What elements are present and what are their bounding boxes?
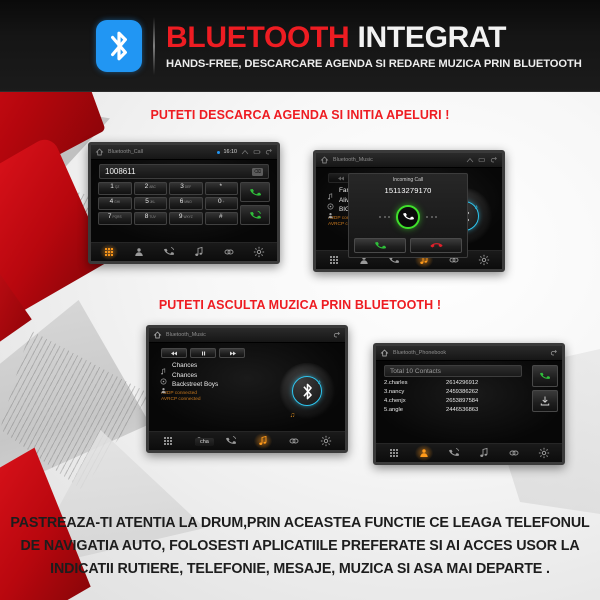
music-transport-controls[interactable] bbox=[149, 343, 345, 358]
contact-number: 2653897584 bbox=[446, 398, 478, 404]
contact-name: 4.chenjx bbox=[384, 398, 446, 404]
dial-key-2[interactable]: 2ABC bbox=[134, 182, 168, 195]
device-screenshot-dialer: Bluetooth_Call 16:10 1008611 ⌫ 1QZ2ABC3D… bbox=[88, 142, 280, 264]
call-log-icon[interactable] bbox=[163, 246, 175, 258]
backspace-icon[interactable]: ⌫ bbox=[252, 168, 263, 176]
call-icon bbox=[539, 370, 551, 382]
settings-icon[interactable] bbox=[320, 435, 332, 447]
download-icon bbox=[539, 395, 551, 407]
dial-key-digit: 0 bbox=[218, 198, 222, 205]
incoming-app-name: Bluetooth_Music bbox=[333, 157, 373, 163]
dialer-keypad[interactable]: 1QZ2ABC3DEF*4GHI5JKL6MNO0+7PQRS8TUV9WXYZ… bbox=[98, 182, 238, 225]
contact-name: 5.angle bbox=[384, 407, 446, 413]
dial-key-#[interactable]: # bbox=[205, 212, 239, 225]
contact-number: 2459386262 bbox=[446, 389, 478, 395]
ring-dots-left bbox=[379, 216, 390, 218]
music-icon[interactable] bbox=[193, 246, 205, 258]
title-red-part: BLUETOOTH bbox=[166, 21, 349, 54]
artist-icon bbox=[327, 206, 334, 213]
contact-number: 2614296912 bbox=[446, 380, 478, 386]
dial-key-9[interactable]: 9WXYZ bbox=[169, 212, 203, 225]
music-note-icon-orange: ♫ bbox=[290, 412, 295, 419]
dial-call-button[interactable] bbox=[240, 182, 270, 202]
contacts-icon[interactable] bbox=[418, 447, 430, 459]
dial-key-digit: 6 bbox=[180, 198, 184, 205]
dial-key-digit: 7 bbox=[108, 213, 112, 220]
dial-key-0[interactable]: 0+ bbox=[205, 197, 239, 210]
keypad-icon[interactable] bbox=[103, 246, 115, 258]
dial-handsfree-button[interactable] bbox=[240, 205, 270, 225]
home-icon[interactable] bbox=[153, 331, 162, 339]
dial-key-8[interactable]: 8TUV bbox=[134, 212, 168, 225]
settings-icon[interactable] bbox=[253, 246, 265, 258]
status-time: 16:10 bbox=[224, 149, 238, 155]
music-navbar[interactable]: cha bbox=[149, 431, 345, 450]
footer-line-1: PASTREAZA-TI ATENTIA LA DRUM,PRIN ACEAST… bbox=[0, 512, 600, 535]
dial-key-digit: 5 bbox=[145, 198, 149, 205]
pause-icon[interactable] bbox=[190, 348, 216, 358]
header-subtitle: HANDS-FREE, DESCARCARE AGENDA SI REDARE … bbox=[166, 58, 582, 70]
dial-key-letters: JKL bbox=[150, 200, 156, 204]
music-note-icon: ♪ bbox=[475, 204, 479, 211]
link-icon[interactable] bbox=[223, 246, 235, 258]
ring-dots-right bbox=[426, 216, 437, 218]
contact-row[interactable]: 3.nancy2459386262 bbox=[384, 389, 554, 395]
contact-name: 3.nancy bbox=[384, 389, 446, 395]
ringing-indicator bbox=[396, 205, 420, 229]
dial-key-digit: 1 bbox=[110, 183, 114, 190]
keypad-icon[interactable] bbox=[328, 254, 340, 266]
signal-icon bbox=[241, 148, 249, 156]
call-answer-icon bbox=[374, 239, 387, 252]
back-icon[interactable] bbox=[550, 349, 558, 357]
dial-key-letters: WXYZ bbox=[183, 215, 192, 219]
battery-icon bbox=[253, 148, 261, 156]
title-white-part: INTEGRAT bbox=[349, 21, 506, 54]
bluetooth-disc-graphic: ♪ bbox=[279, 363, 335, 419]
signal-icon bbox=[466, 156, 474, 164]
dial-key-digit: 2 bbox=[145, 183, 149, 190]
phonebook-titlebar: Bluetooth_Phonebook bbox=[376, 346, 562, 361]
phonebook-download-button[interactable] bbox=[532, 390, 558, 412]
keypad-icon[interactable] bbox=[388, 447, 400, 459]
contact-name: 2.charles bbox=[384, 380, 446, 386]
contact-row[interactable]: 5.angle2446536863 bbox=[384, 407, 554, 413]
track-text: Chances bbox=[172, 362, 197, 369]
dial-key-7[interactable]: 7PQRS bbox=[98, 212, 132, 225]
footer-line-3: INDICATII RUTIERE, TELEFONIE, MESAJE, MU… bbox=[0, 558, 600, 581]
phonebook-app-name: Bluetooth_Phonebook bbox=[393, 350, 446, 356]
incoming-titlebar: Bluetooth_Music bbox=[316, 153, 502, 168]
album-icon bbox=[160, 372, 167, 379]
dial-key-3[interactable]: 3DEF bbox=[169, 182, 203, 195]
track-text: Backstreet Boys bbox=[172, 381, 218, 388]
page-title: BLUETOOTH INTEGRAT bbox=[166, 22, 582, 54]
contacts-icon[interactable] bbox=[133, 246, 145, 258]
header-divider bbox=[153, 17, 155, 75]
dialog-title: Incoming Call bbox=[393, 177, 423, 183]
dial-key-digit: 9 bbox=[179, 213, 183, 220]
call-log-icon[interactable] bbox=[225, 435, 237, 447]
dial-key-letters: TUV bbox=[149, 215, 155, 219]
device-screenshot-phonebook: Bluetooth_Phonebook Total 10 Contacts 2.… bbox=[373, 343, 565, 465]
dial-key-4[interactable]: 4GHI bbox=[98, 197, 132, 210]
dial-key-letters: QZ bbox=[115, 185, 119, 189]
dialer-app-name: Bluetooth_Call bbox=[108, 149, 143, 155]
back-icon[interactable] bbox=[490, 156, 498, 164]
section-heading-1: PUTETI DESCARCA AGENDA SI INITIA APELURI… bbox=[0, 108, 600, 122]
section-heading-2: PUTETI ASCULTA MUZICA PRIN BLUETOOTH ! bbox=[0, 298, 600, 312]
music-icon[interactable] bbox=[478, 447, 490, 459]
device-screenshot-music: Bluetooth_Music ChancesChancesBackstreet… bbox=[146, 325, 348, 453]
phone-number-value: 1008611 bbox=[105, 167, 252, 176]
dial-key-5[interactable]: 5JKL bbox=[134, 197, 168, 210]
music-note-icon: ♪ bbox=[318, 379, 322, 386]
page-header: BLUETOOTH INTEGRAT HANDS-FREE, DESCARCAR… bbox=[0, 0, 600, 92]
dial-key-letters: MNO bbox=[184, 200, 191, 204]
music-nav-chip[interactable]: cha bbox=[195, 438, 214, 446]
dial-key-letters: + bbox=[223, 200, 225, 204]
incoming-call-dialog: Incoming Call 15113279170 bbox=[348, 173, 468, 258]
phonebook-search-input[interactable]: Total 10 Contacts bbox=[384, 365, 522, 377]
album-icon bbox=[327, 197, 334, 204]
dialer-navbar[interactable] bbox=[91, 242, 277, 261]
dial-key-letters: ABC bbox=[149, 185, 156, 189]
battery-icon bbox=[478, 156, 486, 164]
settings-icon[interactable] bbox=[478, 254, 490, 266]
music-titlebar: Bluetooth_Music bbox=[149, 328, 345, 343]
phonebook-contacts-count: Total 10 Contacts bbox=[390, 368, 441, 375]
dial-key-6[interactable]: 6MNO bbox=[169, 197, 203, 210]
link-icon[interactable] bbox=[288, 435, 300, 447]
keypad-icon[interactable] bbox=[162, 435, 174, 447]
dial-key-digit: 3 bbox=[180, 183, 184, 190]
artist-icon bbox=[160, 381, 167, 388]
dial-key-letters: DEF bbox=[185, 185, 191, 189]
dial-key-1[interactable]: 1QZ bbox=[98, 182, 132, 195]
contact-row[interactable]: 2.charles2614296912 bbox=[384, 380, 554, 386]
call-reject-icon bbox=[430, 239, 443, 252]
contact-row[interactable]: 4.chenjx2653897584 bbox=[384, 398, 554, 404]
device-screenshot-incoming-call: Bluetooth_Music FantasticAlive(BiBIGBAN … bbox=[313, 150, 505, 272]
music-app-name: Bluetooth_Music bbox=[166, 332, 206, 338]
prev-icon[interactable] bbox=[161, 348, 187, 358]
home-icon[interactable] bbox=[95, 148, 104, 156]
dial-key-digit: * bbox=[219, 183, 222, 190]
settings-icon[interactable] bbox=[538, 447, 550, 459]
home-icon[interactable] bbox=[380, 349, 389, 357]
track-text: Chances bbox=[172, 372, 197, 379]
link-icon[interactable] bbox=[508, 447, 520, 459]
footer-paragraph: PASTREAZA-TI ATENTIA LA DRUM,PRIN ACEAST… bbox=[0, 512, 600, 581]
next-icon[interactable] bbox=[219, 348, 245, 358]
reject-call-button[interactable] bbox=[410, 238, 462, 253]
back-icon[interactable] bbox=[265, 148, 273, 156]
status-dot bbox=[217, 151, 220, 154]
dial-key-letters: PQRS bbox=[113, 215, 122, 219]
answer-call-button[interactable] bbox=[354, 238, 406, 253]
dial-key-digit: # bbox=[219, 213, 223, 220]
dial-key-digit: 4 bbox=[110, 198, 114, 205]
phonebook-navbar[interactable] bbox=[376, 443, 562, 462]
track-icon bbox=[327, 187, 334, 194]
back-icon[interactable] bbox=[333, 331, 341, 339]
dialog-caller-number: 15113279170 bbox=[385, 186, 432, 195]
dialer-titlebar: Bluetooth_Call 16:10 bbox=[91, 145, 277, 160]
phone-number-display[interactable]: 1008611 ⌫ bbox=[99, 164, 269, 179]
bluetooth-icon bbox=[96, 20, 142, 72]
phonebook-call-button[interactable] bbox=[532, 365, 558, 387]
dial-key-letters: GHI bbox=[114, 200, 120, 204]
home-icon[interactable] bbox=[320, 156, 329, 164]
dial-key-digit: 8 bbox=[145, 213, 149, 220]
footer-line-2: DE NAVIGATIA AUTO, FOLOSESTI APLICATIILE… bbox=[0, 535, 600, 558]
contact-number: 2446536863 bbox=[446, 407, 478, 413]
dial-key-*[interactable]: * bbox=[205, 182, 239, 195]
music-icon[interactable] bbox=[257, 435, 269, 447]
track-icon bbox=[160, 362, 167, 369]
call-log-icon[interactable] bbox=[448, 447, 460, 459]
